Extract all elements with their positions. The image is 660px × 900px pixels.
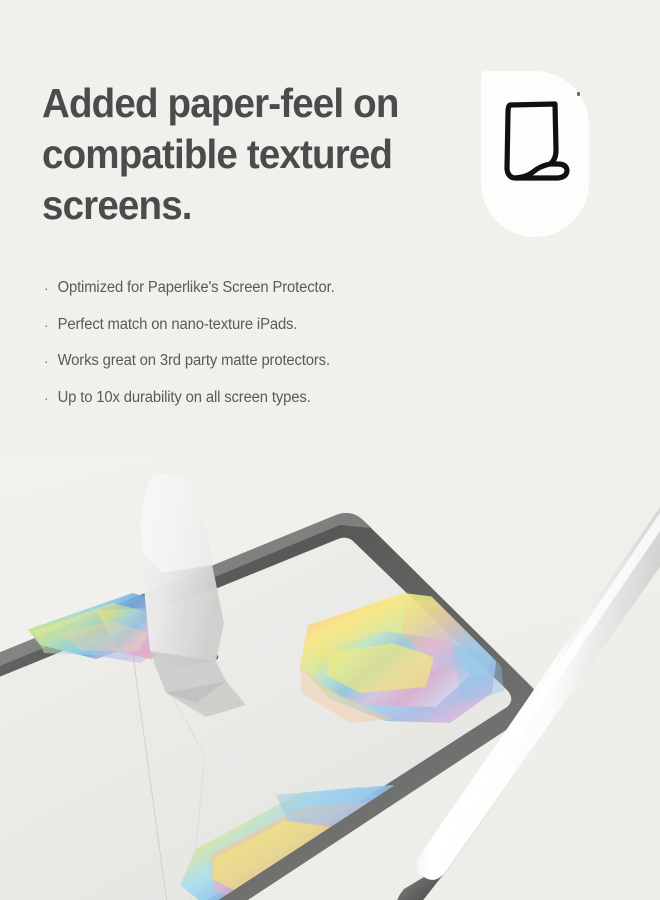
feature-list: · Optimized for Paperlike's Screen Prote… <box>44 278 464 424</box>
list-item-label: Perfect match on nano-texture iPads. <box>58 315 452 335</box>
bullet-marker-icon: · <box>44 315 58 335</box>
list-item-label: Works great on 3rd party matte protector… <box>58 351 452 371</box>
list-item: · Up to 10x durability on all screen typ… <box>44 388 451 408</box>
list-item: · Perfect match on nano-texture iPads. <box>44 315 451 335</box>
list-item-label: Up to 10x durability on all screen types… <box>58 388 452 408</box>
feature-card: Added paper-feel on compatible textured … <box>0 0 660 900</box>
feature-badge <box>481 71 589 237</box>
list-item: · Optimized for Paperlike's Screen Prote… <box>44 278 451 298</box>
curling-paper-sheet-icon <box>500 100 572 184</box>
page-title: Added paper-feel on compatible textured … <box>42 78 423 231</box>
list-item-label: Optimized for Paperlike's Screen Protect… <box>58 278 452 298</box>
bullet-marker-icon: · <box>44 388 58 408</box>
badge-speck <box>577 92 580 96</box>
bullet-marker-icon: · <box>44 351 58 371</box>
product-photo <box>0 455 660 900</box>
bullet-marker-icon: · <box>44 278 58 298</box>
list-item: · Works great on 3rd party matte protect… <box>44 351 451 371</box>
text-content-area: Added paper-feel on compatible textured … <box>0 0 660 470</box>
